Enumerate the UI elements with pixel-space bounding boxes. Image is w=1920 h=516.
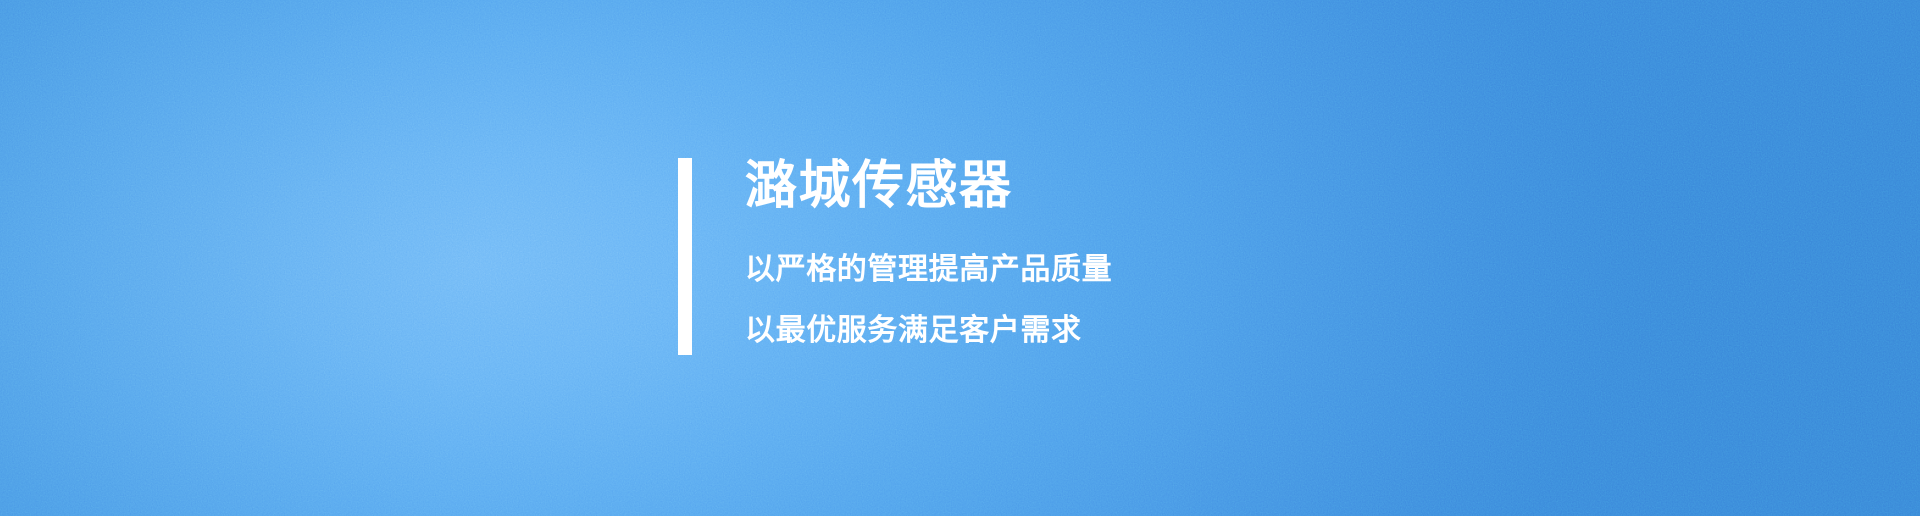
banner-subtitle-line-2: 以最优服务满足客户需求 <box>745 316 1112 346</box>
vertical-accent-bar <box>678 158 692 355</box>
banner-title: 潞城传感器 <box>745 160 1112 212</box>
banner-content: 潞城传感器 以严格的管理提高产品质量 以最优服务满足客户需求 <box>678 158 1112 355</box>
hero-banner: 潞城传感器 以严格的管理提高产品质量 以最优服务满足客户需求 <box>0 0 1920 516</box>
banner-text-block: 潞城传感器 以严格的管理提高产品质量 以最优服务满足客户需求 <box>745 158 1112 355</box>
banner-subtitle-line-1: 以严格的管理提高产品质量 <box>745 255 1112 285</box>
